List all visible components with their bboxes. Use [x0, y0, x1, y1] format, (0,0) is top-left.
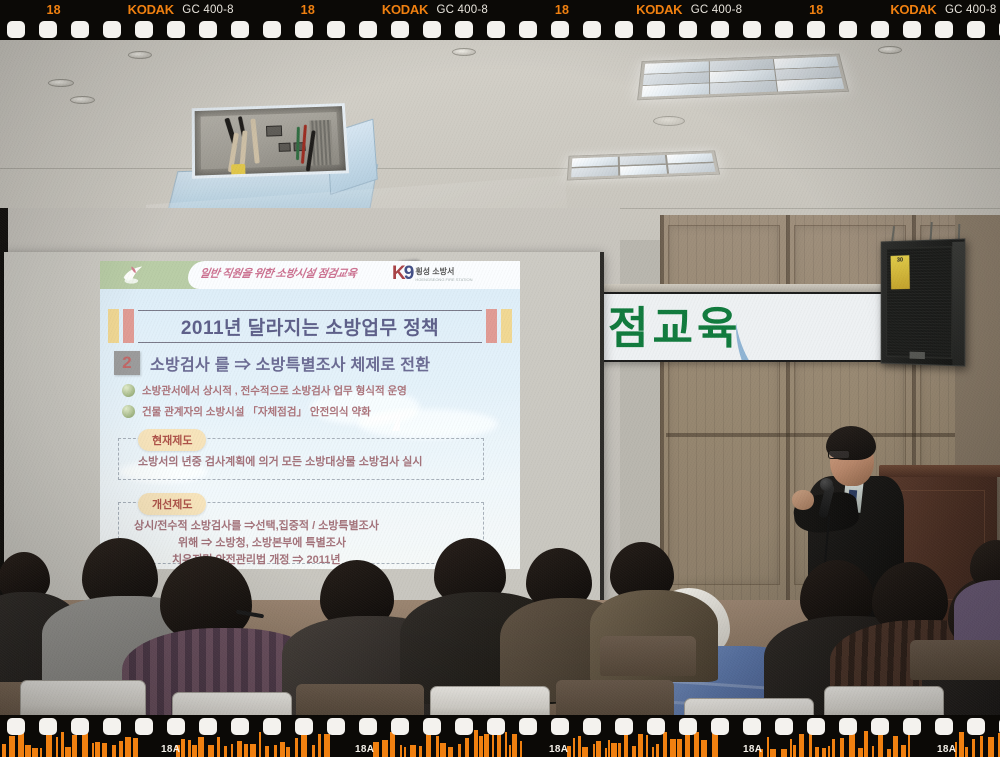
slide-header-band: 일반 직원을 위한 소방시설 점검교육 K9 횡성 소방서 HOENGSEONG… [100, 261, 520, 289]
barcode-bar [701, 740, 707, 757]
photograph-content: 점교육 30 [0, 40, 1000, 715]
barcode-bar [965, 747, 968, 757]
wall-mounted-pa-speaker: 30 [881, 238, 966, 366]
barcode-bar [638, 734, 643, 757]
barcode-bar [95, 742, 100, 757]
film-sprocket-hole [647, 718, 665, 735]
film-sprocket-hole [519, 21, 537, 38]
film-sprocket-hole [231, 718, 249, 735]
barcode-bar [40, 748, 42, 757]
cloud-motif [358, 409, 498, 439]
film-sprocket-hole [455, 718, 473, 735]
film-stock-code: GC 400-8 [437, 0, 488, 20]
barcode-bar [781, 749, 787, 757]
film-sprocket-hole [167, 21, 185, 38]
barcode-bar [448, 747, 453, 757]
barcode-bar [72, 735, 77, 757]
chair [296, 684, 424, 715]
film-frame-number-bottom: 18A [161, 744, 180, 755]
barcode-bar [832, 739, 835, 757]
film-sprocket-hole [775, 718, 793, 735]
wood-panel [668, 225, 780, 585]
barcode-bar [632, 746, 636, 757]
barcode-bar [465, 738, 469, 757]
slide-section-row: 2 소방검사 를 ⇒ 소방특별조사 체제로 전환 [114, 351, 510, 375]
ceiling-seam [0, 168, 1000, 169]
film-frame-number-bottom: 18A [549, 744, 568, 755]
film-sprocket-hole [903, 21, 921, 38]
block-line: 상시/전수적 소방검사를 ⇒선택,집중적 / 소방특별조사 [134, 517, 379, 533]
film-stock-code: GC 400-8 [182, 0, 233, 20]
film-sprocket-hole [295, 718, 313, 735]
block-line: 소방서의 년중 검사계획에 의거 모든 소방대상물 소방검사 실시 [138, 453, 423, 469]
barcode-bar [208, 745, 214, 757]
bullet-text: 소방관서에서 상시적 , 전수적으로 소방검사 업무 형식적 운영 [142, 383, 407, 398]
film-sprocket-hole [583, 21, 601, 38]
barcode-bar [878, 735, 883, 757]
barcode-bar [646, 735, 648, 757]
film-sprocket-hole [231, 21, 249, 38]
film-sprocket-hole [807, 21, 825, 38]
film-framed-photograph: 18 KODAK GC 400-8 18 KODAK GC 400-8 18 K… [0, 0, 1000, 757]
chair [430, 686, 550, 715]
film-sprocket-hole [263, 718, 281, 735]
barcode-bar [573, 738, 575, 757]
film-frame-number-bottom: 18A [937, 744, 956, 755]
barcode-bar [822, 748, 826, 757]
chair [20, 680, 146, 715]
film-sprocket-hole [711, 718, 729, 735]
cable [250, 118, 259, 163]
film-sprocket-hole [711, 21, 729, 38]
film-brand: KODAK [382, 0, 428, 20]
barcode-bar [32, 748, 38, 757]
logo-org-name: 횡성 소방서 [415, 267, 472, 277]
bullet-dot-icon [122, 384, 135, 397]
chair [684, 698, 814, 715]
film-sprocket-hole [551, 21, 569, 38]
film-sprocket-hole [743, 718, 761, 735]
film-sprocket-hole [135, 21, 153, 38]
film-sprocket-hole [391, 21, 409, 38]
av-port [279, 143, 291, 152]
barcode-bar [815, 747, 819, 757]
film-sprocket-hole [359, 21, 377, 38]
recessed-downlight [452, 48, 476, 56]
presenter-hand [792, 490, 814, 510]
barcode-bar [901, 745, 906, 757]
barcode-bar [605, 748, 607, 757]
barcode-bar [318, 734, 321, 757]
film-sprocket-hole [839, 21, 857, 38]
barcode-bar [972, 739, 975, 757]
cable-connector [231, 164, 245, 179]
barcode-bar [670, 739, 676, 757]
film-sprocket-hole [199, 718, 217, 735]
barcode-bar [188, 740, 191, 757]
barcode-bar [2, 744, 6, 757]
film-sprocket-hole [103, 718, 121, 735]
list-item [966, 540, 1000, 630]
barcode-bar [790, 739, 792, 757]
film-sprocket-hole [903, 718, 921, 735]
barcode-bar [578, 736, 581, 757]
barcode-bar [295, 738, 298, 757]
barcode-bar [404, 747, 406, 757]
chair [556, 680, 674, 715]
barcode-bar [312, 745, 315, 757]
film-sprocket-hole [327, 21, 345, 38]
speaker-warning-label: 30 [891, 255, 910, 289]
film-stock-code: GC 400-8 [691, 0, 742, 20]
film-brand: KODAK [636, 0, 682, 20]
smoke-detector-icon [653, 116, 685, 126]
barcode-bar [286, 747, 290, 757]
bullet-text: 건물 관계자의 소방시설 「자체점검」 안전의식 약화 [142, 404, 371, 419]
organization-logo: K9 횡성 소방서 HOENGSEONG FIRE STATION [392, 263, 473, 285]
logo-mark: K9 [392, 263, 412, 285]
barcode-bar [484, 734, 489, 757]
barcode-bar [250, 744, 256, 757]
title-accent-bar [486, 309, 497, 343]
block-chip: 현재제도 [138, 429, 206, 451]
film-sprocket-hole [135, 718, 153, 735]
barcode-bar [102, 743, 107, 757]
dove-icon [120, 264, 146, 286]
barcode-bar [324, 734, 330, 757]
film-sprocket-hole [935, 718, 953, 735]
barcode-bar [840, 738, 844, 757]
barcode-bar [265, 746, 269, 757]
film-sprocket-hole [199, 21, 217, 38]
barcode-bar [793, 745, 796, 757]
film-sprocket-hole [615, 21, 633, 38]
barcode-bar [980, 736, 983, 757]
logo-sub-text: HOENGSEONG FIRE STATION [415, 277, 472, 282]
speaker-brand-badge [910, 352, 925, 359]
ceiling-projector-mount [178, 99, 372, 216]
film-sprocket-hole [679, 718, 697, 735]
microphone-head [820, 478, 833, 491]
barcode-bar [652, 747, 654, 757]
title-accent-bar [123, 309, 134, 343]
film-sprocket-hole [743, 21, 761, 38]
barcode-bar [244, 744, 248, 757]
barcode-bar [887, 749, 891, 757]
barcode-bar [280, 742, 285, 757]
slide-title-box: 2011년 달라지는 소방업무 정책 [138, 310, 482, 343]
film-sprocket-hole [519, 718, 537, 735]
chair [600, 636, 696, 676]
barcode-bar [828, 746, 830, 757]
barcode-bar [611, 743, 617, 757]
barcode-bar [893, 736, 898, 757]
barcode-bar [419, 746, 422, 757]
barcode-bar [92, 743, 94, 757]
barcode-bar [440, 743, 446, 757]
barcode-bar [25, 745, 31, 757]
barcode-bar [436, 736, 439, 757]
barcode-bar [133, 738, 138, 757]
projected-slide: 일반 직원을 위한 소방시설 점검교육 K9 횡성 소방서 HOENGSEONG… [100, 261, 520, 569]
barcode-bar [56, 737, 58, 757]
film-sprocket-holes-bottom [0, 717, 1000, 737]
film-sprocket-hole [871, 21, 889, 38]
barcode-bar [520, 741, 522, 757]
section-number-badge: 2 [114, 351, 140, 375]
barcode-bar [382, 740, 388, 757]
barcode-bar [677, 739, 682, 757]
film-sprocket-hole [423, 718, 441, 735]
barcode-bar [458, 744, 461, 757]
barcode-bar [608, 740, 610, 757]
film-sprocket-hole [647, 21, 665, 38]
barcode-bar [509, 745, 511, 757]
film-sprocket-hole [679, 21, 697, 38]
film-sprocket-hole [967, 21, 985, 38]
chair [910, 640, 1000, 680]
slide-title-row: 2011년 달라지는 소방업무 정책 [108, 305, 512, 347]
barcode-bar [656, 744, 659, 757]
film-sprocket-hole [775, 21, 793, 38]
recessed-downlight [70, 96, 95, 104]
barcode-bar [237, 741, 242, 757]
barcode-bar [198, 737, 204, 757]
film-brand: KODAK [890, 0, 936, 20]
film-frame-number: 18 [46, 0, 60, 20]
film-sprocket-hole [487, 718, 505, 735]
barcode-bar [231, 744, 233, 757]
barcode-bar [9, 736, 15, 757]
title-accent-bar [108, 309, 119, 343]
film-sprocket-hole [487, 21, 505, 38]
film-sprocket-holes-top [0, 20, 1000, 40]
av-port [266, 125, 282, 136]
barcode-bar [181, 739, 185, 757]
film-sprocket-hole [583, 718, 601, 735]
film-sprocket-hole [295, 21, 313, 38]
barcode-bar [301, 735, 307, 757]
cable [301, 125, 307, 164]
film-sprocket-hole [7, 718, 25, 735]
section-heading: 소방검사 를 ⇒ 소방특별조사 체제로 전환 [150, 351, 430, 375]
barcode-bar [65, 747, 71, 757]
film-frame-number: 18 [555, 0, 569, 20]
barcode-bar [274, 745, 277, 757]
barcode-bar [858, 748, 863, 757]
film-sprocket-hole [871, 718, 889, 735]
sailboat-motif [392, 411, 400, 431]
film-sprocket-hole [39, 718, 57, 735]
chair [172, 692, 292, 715]
barcode-bar [479, 736, 483, 757]
cable [296, 127, 300, 160]
chair [824, 686, 944, 715]
film-frame-number: 18 [809, 0, 823, 20]
film-sprocket-hole [263, 21, 281, 38]
film-sprocket-hole [103, 21, 121, 38]
film-sprocket-hole [71, 718, 89, 735]
barcode-bar [125, 737, 131, 757]
block-chip: 개선제도 [138, 493, 206, 515]
film-sprocket-hole [935, 21, 953, 38]
title-accent-bar [501, 309, 512, 343]
film-sprocket-hole [327, 718, 345, 735]
film-frame-number: 18 [301, 0, 315, 20]
barcode-bar [770, 749, 776, 757]
film-strip-top: 18 KODAK GC 400-8 18 KODAK GC 400-8 18 K… [0, 0, 1000, 40]
film-stock-code: GC 400-8 [945, 0, 996, 20]
film-strip-bottom: 18A 18A 18A 18A 18A [0, 715, 1000, 757]
film-sprocket-hole [615, 718, 633, 735]
barcode-bar [767, 737, 769, 757]
film-sprocket-hole [391, 718, 409, 735]
film-frame-number-bottom: 18A [355, 744, 374, 755]
film-brand: KODAK [128, 0, 174, 20]
projector-mount-cavity [192, 103, 349, 179]
barcode-bar [192, 745, 197, 757]
barcode-bar [582, 747, 588, 757]
barcode-bar [618, 743, 621, 757]
film-sprocket-hole [967, 718, 985, 735]
film-sprocket-hole [39, 21, 57, 38]
film-sprocket-hole [167, 718, 185, 735]
recessed-downlight [878, 46, 902, 54]
film-frame-number-bottom: 18A [743, 744, 762, 755]
recessed-downlight [48, 79, 74, 87]
film-sprocket-hole [7, 21, 25, 38]
barcode-bar [593, 744, 595, 757]
film-sprocket-hole [551, 718, 569, 735]
barcode-bar [119, 741, 123, 757]
recessed-downlight [128, 51, 152, 59]
barcode-bar [988, 737, 994, 757]
barcode-bar [872, 746, 874, 757]
barcode-bar [799, 734, 804, 757]
barcode-bar [112, 745, 116, 757]
slide-title: 2011년 달라지는 소방업무 정책 [138, 313, 482, 340]
barcode-bar [512, 734, 517, 757]
film-sprocket-hole [807, 718, 825, 735]
barcode-bar [400, 745, 402, 757]
slide-bullet: 소방관서에서 상시적 , 전수적으로 소방검사 업무 형식적 운영 [122, 383, 407, 398]
glasses-icon [828, 450, 850, 459]
film-sprocket-hole [839, 718, 857, 735]
bullet-dot-icon [122, 405, 135, 418]
barcode-bar [224, 746, 227, 757]
film-edge-markings-top: 18 KODAK GC 400-8 18 KODAK GC 400-8 18 K… [0, 0, 1000, 20]
speaker-side-panel [952, 242, 964, 366]
film-sprocket-hole [359, 718, 377, 735]
barcode-bar [410, 745, 416, 757]
film-sprocket-hole [455, 21, 473, 38]
barcode-bar [217, 737, 220, 757]
barcode-bar [596, 741, 601, 757]
banner-title: 점교육 [608, 300, 741, 358]
film-sprocket-hole [423, 21, 441, 38]
slide-bullet: 건물 관계자의 소방시설 「자체점검」 안전의식 약화 [122, 404, 371, 419]
slide-header-title: 일반 직원을 위한 소방시설 점검교육 [199, 265, 382, 281]
film-sprocket-hole [71, 21, 89, 38]
